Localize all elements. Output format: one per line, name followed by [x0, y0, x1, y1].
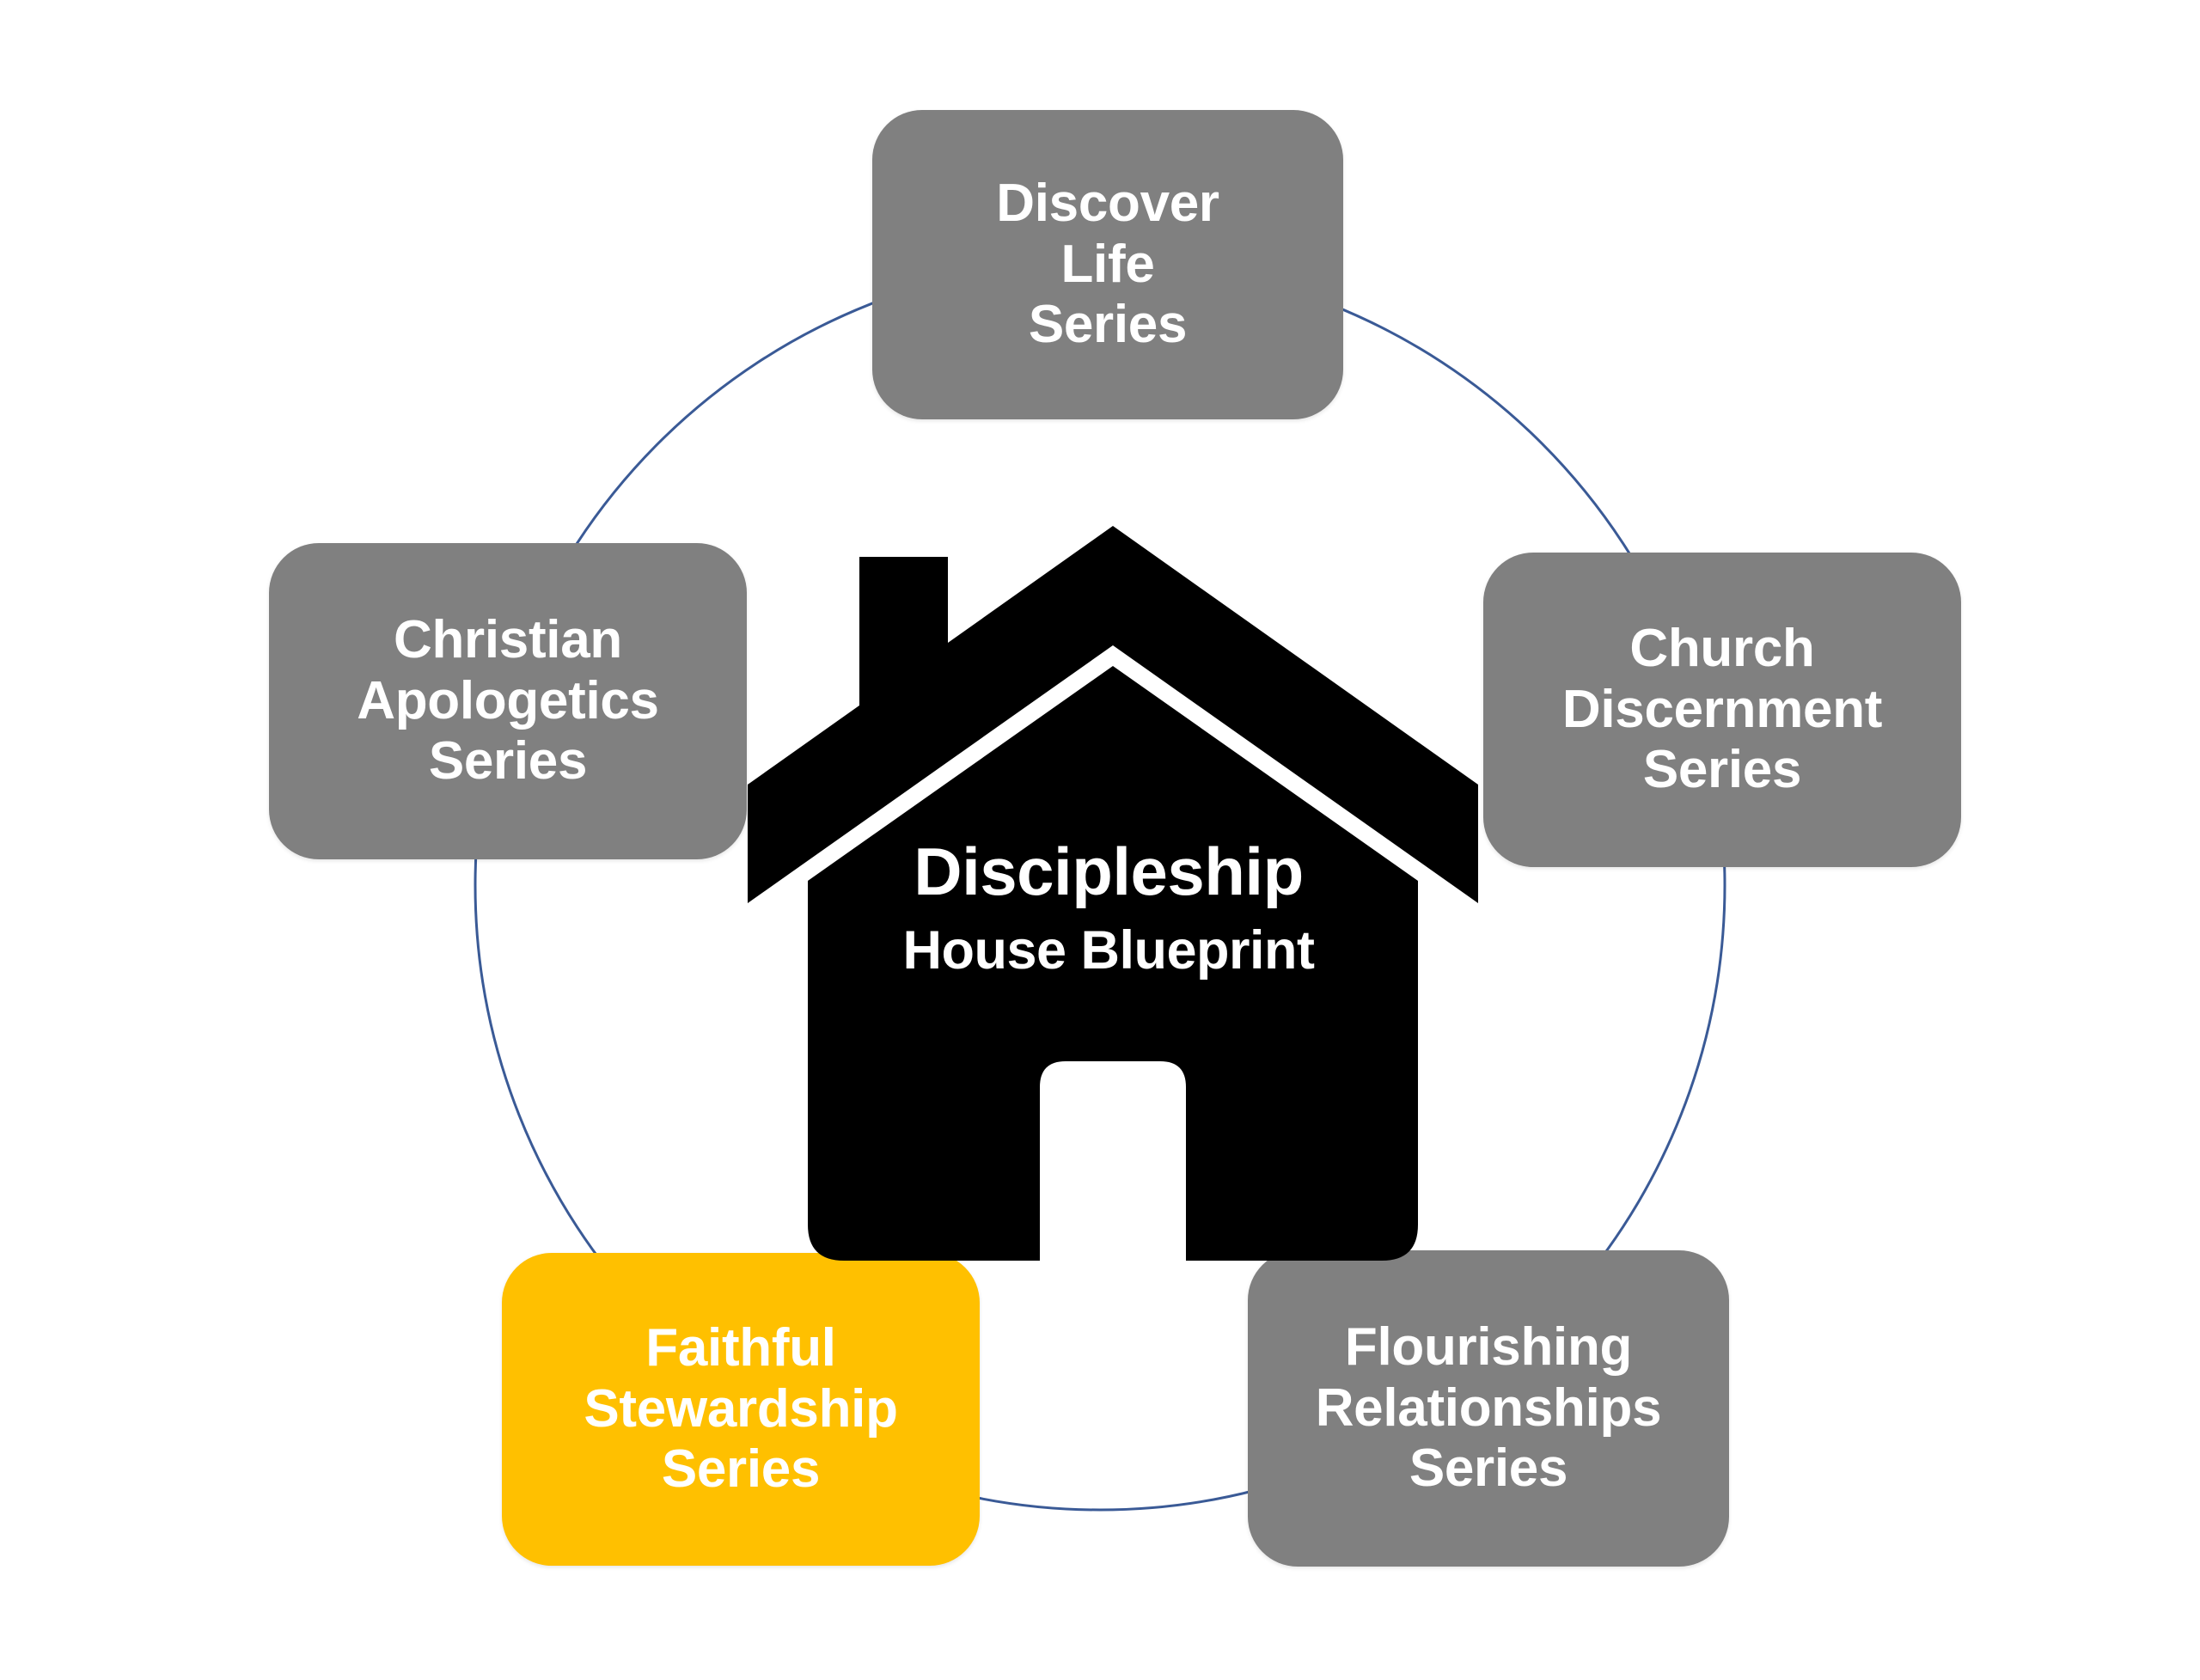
node-line: Series — [1409, 1439, 1567, 1500]
center-hub[interactable]: Discipleship House Blueprint — [739, 511, 1478, 1268]
node-line: Series — [1643, 740, 1801, 801]
node-christian-apologetics-series[interactable]: Christian Apologetics Series — [269, 543, 747, 859]
node-line: Series — [429, 731, 587, 792]
node-line: Apologetics — [357, 671, 659, 732]
node-faithful-stewardship-series[interactable]: Faithful Stewardship Series — [502, 1253, 980, 1566]
node-line: Relationships — [1316, 1378, 1662, 1439]
node-line: Discernment — [1562, 680, 1882, 741]
node-church-discernment-series[interactable]: Church Discernment Series — [1483, 553, 1961, 867]
node-line: Flourishing — [1345, 1317, 1632, 1378]
node-line: Faithful — [645, 1318, 835, 1379]
node-line: Series — [662, 1439, 820, 1500]
node-line: Christian — [394, 610, 622, 671]
house-icon — [739, 511, 1478, 1268]
node-flourishing-relationships-series[interactable]: Flourishing Relationships Series — [1248, 1250, 1729, 1567]
node-line: Stewardship — [584, 1379, 897, 1440]
diagram-canvas: Discover Life Series Church Discernment … — [0, 0, 2200, 1680]
node-line: Series — [1029, 295, 1187, 356]
node-line: Life — [1060, 235, 1154, 296]
node-discover-life-series[interactable]: Discover Life Series — [872, 110, 1343, 419]
node-line: Discover — [996, 174, 1219, 235]
node-line: Church — [1629, 619, 1814, 680]
